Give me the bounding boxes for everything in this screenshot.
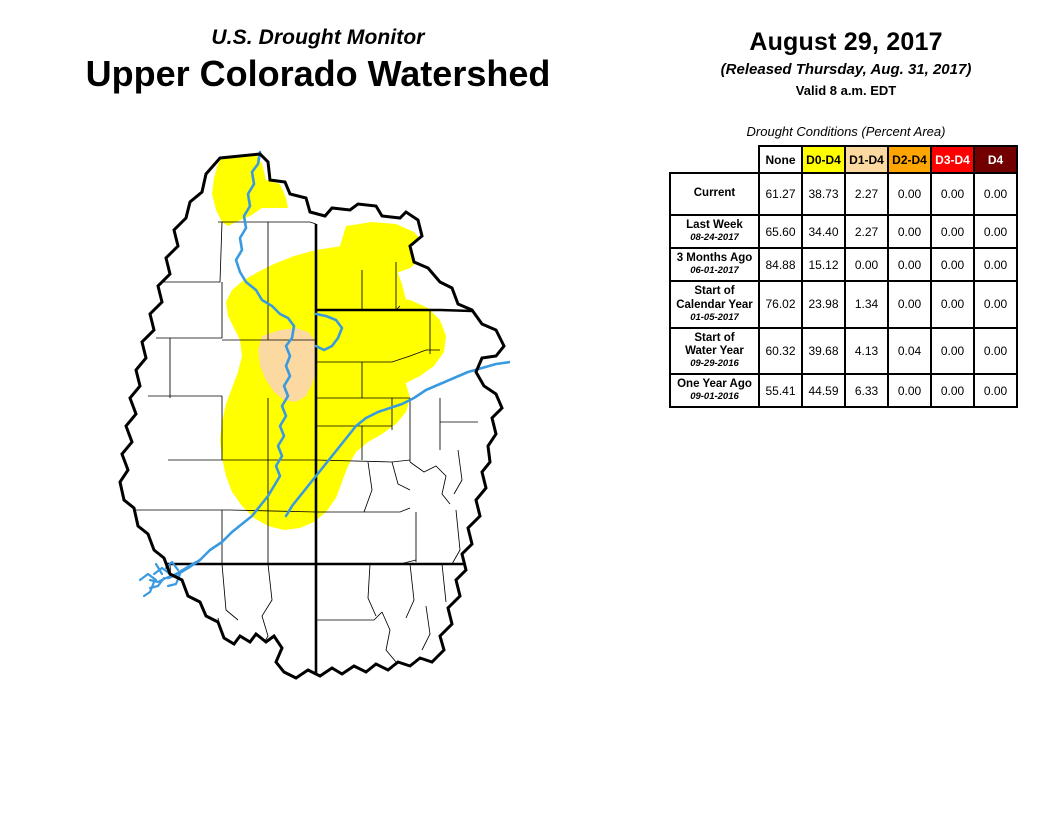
title-block: U.S. Drought Monitor Upper Colorado Wate… [0,26,636,94]
cell-current-d1d4: 2.27 [845,173,888,215]
cell-3months-d4: 0.00 [974,248,1017,281]
info-panel: August 29, 2017 (Released Thursday, Aug.… [636,0,1056,816]
cell-calyear-d2d4: 0.00 [888,281,931,327]
date-block: August 29, 2017 (Released Thursday, Aug.… [636,28,1056,98]
cell-oneyear-d4: 0.00 [974,374,1017,407]
cell-current-d3d4: 0.00 [931,173,974,215]
cell-oneyear-d3d4: 0.00 [931,374,974,407]
column-header-none: None [759,146,802,173]
row-label-name: Start ofCalendar Year [673,285,756,311]
row-label-name: Last Week [673,219,756,232]
cell-wateryear-d0d4: 39.68 [802,328,845,374]
table-row: Current 61.27 38.73 2.27 0.00 0.00 0.00 [670,173,1017,215]
cell-3months-d2d4: 0.00 [888,248,931,281]
row-label-current: Current [670,173,759,215]
row-label-date: 09-01-2016 [673,392,756,403]
cell-3months-d3d4: 0.00 [931,248,974,281]
cell-lastweek-d3d4: 0.00 [931,215,974,248]
row-label-name: Current [673,187,756,200]
cell-3months-none: 84.88 [759,248,802,281]
drought-conditions-table: None D0-D4 D1-D4 D2-D4 D3-D4 D4 Current … [669,145,1018,408]
cell-oneyear-d1d4: 6.33 [845,374,888,407]
cell-3months-d0d4: 15.12 [802,248,845,281]
watershed-map-svg[interactable] [110,150,510,800]
row-label-last-week: Last Week 08-24-2017 [670,215,759,248]
cell-lastweek-d0d4: 34.40 [802,215,845,248]
column-header-d2-d4: D2-D4 [888,146,931,173]
row-label-date: 08-24-2017 [673,233,756,244]
table-row: Start ofCalendar Year 01-05-2017 76.02 2… [670,281,1017,327]
release-date: (Released Thursday, Aug. 31, 2017) [636,61,1056,78]
cell-calyear-none: 76.02 [759,281,802,327]
page-title: Upper Colorado Watershed [0,54,636,94]
cell-lastweek-none: 65.60 [759,215,802,248]
row-label-start-calendar-year: Start ofCalendar Year 01-05-2017 [670,281,759,327]
cell-current-d0d4: 38.73 [802,173,845,215]
valid-time: Valid 8 a.m. EDT [636,83,1056,98]
row-label-date: 06-01-2017 [673,266,756,277]
cell-wateryear-none: 60.32 [759,328,802,374]
cell-oneyear-d0d4: 44.59 [802,374,845,407]
header-spacer [670,146,759,173]
column-header-d0-d4: D0-D4 [802,146,845,173]
table-row: 3 Months Ago 06-01-2017 84.88 15.12 0.00… [670,248,1017,281]
table-caption: Drought Conditions (Percent Area) [636,124,1056,139]
table-row: One Year Ago 09-01-2016 55.41 44.59 6.33… [670,374,1017,407]
map-fill-layer [110,150,510,800]
cell-lastweek-d2d4: 0.00 [888,215,931,248]
cell-lastweek-d1d4: 2.27 [845,215,888,248]
row-label-name: 3 Months Ago [673,252,756,265]
row-label-name: One Year Ago [673,378,756,391]
agency-title: U.S. Drought Monitor [0,26,636,49]
cell-current-d2d4: 0.00 [888,173,931,215]
row-label-one-year-ago: One Year Ago 09-01-2016 [670,374,759,407]
row-label-name: Start ofWater Year [673,332,756,358]
column-header-d1-d4: D1-D4 [845,146,888,173]
row-label-start-water-year: Start ofWater Year 09-29-2016 [670,328,759,374]
cell-current-d4: 0.00 [974,173,1017,215]
drought-map[interactable] [110,150,510,800]
cell-calyear-d1d4: 1.34 [845,281,888,327]
table-row: Last Week 08-24-2017 65.60 34.40 2.27 0.… [670,215,1017,248]
column-header-d3-d4: D3-D4 [931,146,974,173]
cell-wateryear-d2d4: 0.04 [888,328,931,374]
map-panel: U.S. Drought Monitor Upper Colorado Wate… [0,0,636,816]
cell-calyear-d0d4: 23.98 [802,281,845,327]
row-label-date: 09-29-2016 [673,359,756,370]
table-row: Start ofWater Year 09-29-2016 60.32 39.6… [670,328,1017,374]
cell-3months-d1d4: 0.00 [845,248,888,281]
cell-oneyear-none: 55.41 [759,374,802,407]
table-header-row: None D0-D4 D1-D4 D2-D4 D3-D4 D4 [670,146,1017,173]
column-header-d4: D4 [974,146,1017,173]
cell-oneyear-d2d4: 0.00 [888,374,931,407]
cell-current-none: 61.27 [759,173,802,215]
cell-calyear-d3d4: 0.00 [931,281,974,327]
row-label-3-months-ago: 3 Months Ago 06-01-2017 [670,248,759,281]
cell-wateryear-d4: 0.00 [974,328,1017,374]
cell-lastweek-d4: 0.00 [974,215,1017,248]
valid-date: August 29, 2017 [636,28,1056,57]
row-label-date: 01-05-2017 [673,313,756,324]
cell-wateryear-d1d4: 4.13 [845,328,888,374]
cell-calyear-d4: 0.00 [974,281,1017,327]
cell-wateryear-d3d4: 0.00 [931,328,974,374]
